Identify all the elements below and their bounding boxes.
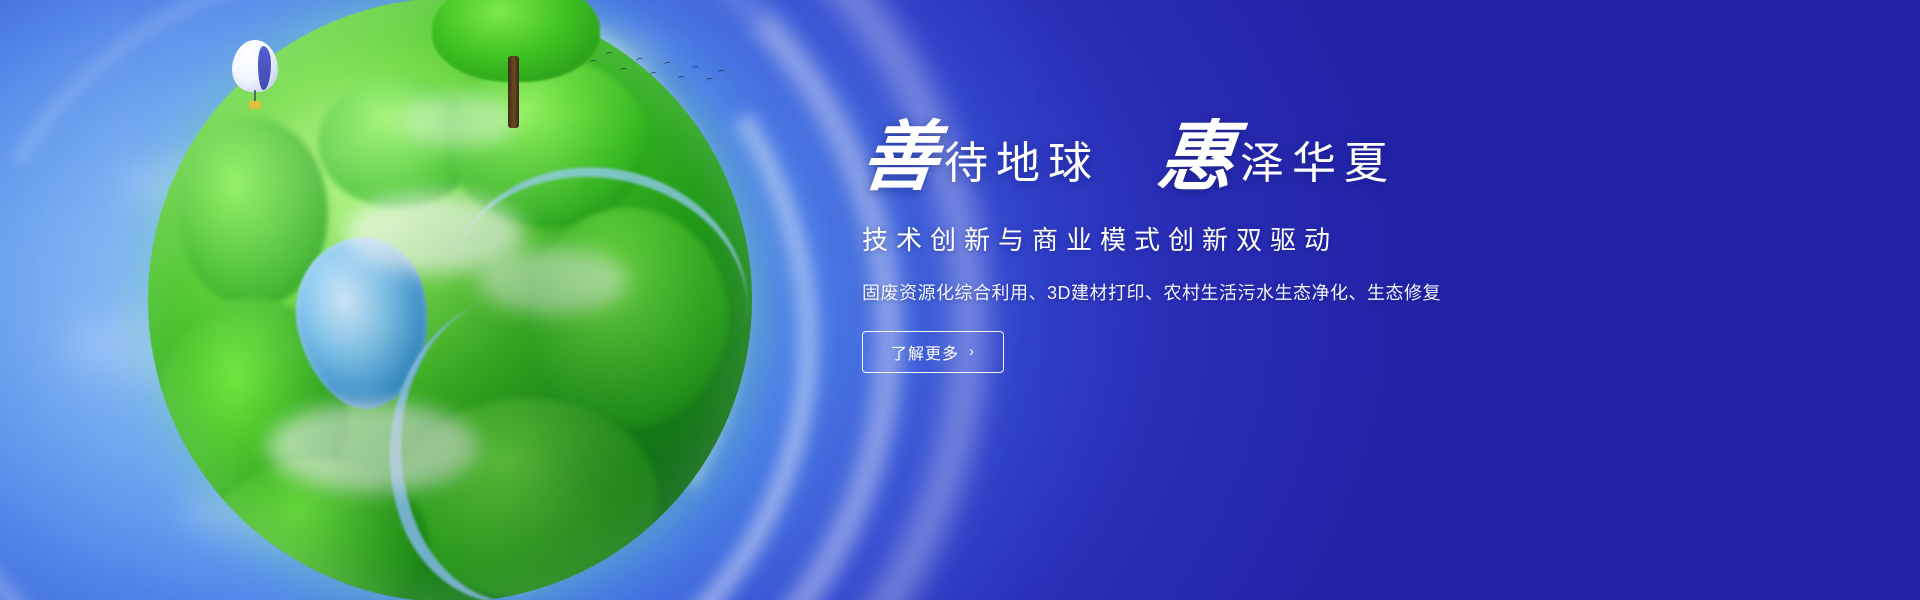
tree xyxy=(426,0,606,128)
headline-brush-char-2: 惠 xyxy=(1154,124,1237,194)
headline-brush-char-1: 善 xyxy=(858,124,941,194)
chevron-right-icon: › xyxy=(969,344,975,359)
bird-icon xyxy=(678,76,685,82)
river xyxy=(344,265,687,600)
river xyxy=(428,144,752,452)
bird-icon xyxy=(606,52,613,58)
bird-icon xyxy=(620,68,627,74)
bird-icon xyxy=(664,62,671,68)
foliage-blob xyxy=(158,298,348,528)
cloud-over-globe xyxy=(344,194,524,274)
bird-icon xyxy=(692,66,699,72)
tree-trunk xyxy=(508,56,519,128)
bird-icon xyxy=(650,72,657,78)
learn-more-label: 了解更多 xyxy=(891,340,959,364)
hero-copy: 善 待地球 惠 泽华夏 技术创新与商业模式创新双驱动 固废资源化综合利用、3D建… xyxy=(862,124,1562,373)
cloud-over-globe xyxy=(268,402,478,492)
foliage-blob xyxy=(528,208,728,428)
lake xyxy=(279,225,448,422)
bird-icon xyxy=(718,70,725,76)
hero-description: 固废资源化综合利用、3D建材打印、农村生活污水生态净化、生态修复 xyxy=(862,279,1562,305)
hero-banner: 善 待地球 惠 泽华夏 技术创新与商业模式创新双驱动 固废资源化综合利用、3D建… xyxy=(0,0,1920,600)
bird-icon xyxy=(636,58,643,64)
headline-plain-2: 泽华夏 xyxy=(1240,142,1396,194)
foliage-blob xyxy=(178,118,328,308)
hero-subtitle: 技术创新与商业模式创新双驱动 xyxy=(862,220,1562,257)
balloon-envelope xyxy=(232,40,278,92)
headline-plain-1: 待地球 xyxy=(944,142,1100,194)
page-title: 善 待地球 惠 泽华夏 xyxy=(862,124,1562,194)
foliage-blob xyxy=(208,458,428,600)
hot-air-balloon xyxy=(232,40,278,112)
cloud-over-globe xyxy=(478,248,628,314)
bird-flock xyxy=(586,48,726,94)
bird-icon xyxy=(706,78,713,84)
balloon-basket xyxy=(249,101,261,109)
bird-icon xyxy=(590,60,597,66)
learn-more-button[interactable]: 了解更多 › xyxy=(862,331,1004,373)
